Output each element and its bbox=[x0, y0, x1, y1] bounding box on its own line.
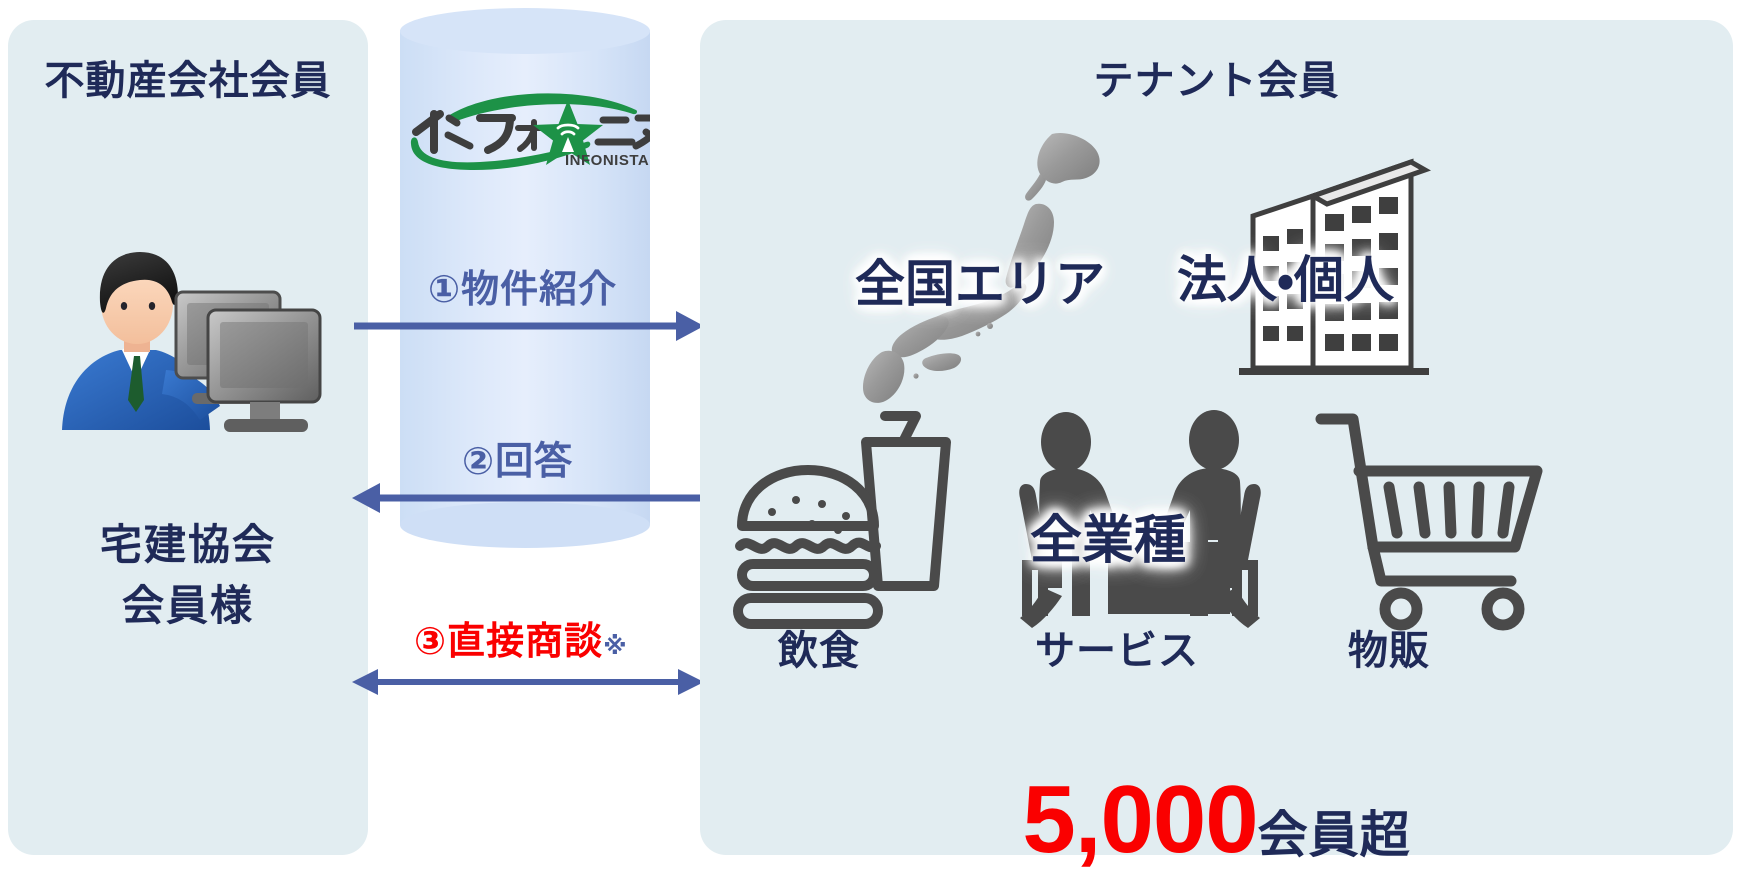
flow-3-arrow-bidirectional bbox=[352, 662, 704, 702]
category-label-food: 飲食 bbox=[778, 618, 860, 676]
flow-direct-negotiation: ③直接商談※ bbox=[352, 610, 704, 700]
feature-label-area: 全国エリア bbox=[855, 244, 1105, 316]
infonista-logo: INFONISTA bbox=[400, 80, 650, 170]
cylinder-top-ellipse bbox=[400, 8, 650, 54]
flow-3-label: ③直接商談 bbox=[414, 621, 603, 663]
category-label-retail: 物販 bbox=[1348, 618, 1430, 676]
person-at-computer-icon bbox=[48, 230, 328, 465]
member-count: 5,000会員超 bbox=[700, 765, 1733, 873]
left-caption-line-2: 会員様 bbox=[8, 576, 368, 637]
flow-property-introduction: ①物件紹介 bbox=[352, 258, 704, 346]
flow-2-arrow-left bbox=[352, 478, 704, 518]
flow-1-label: ①物件紹介 bbox=[428, 258, 617, 313]
right-panel: テナント会員 bbox=[700, 20, 1733, 855]
feature-label-industry: 全業種 bbox=[1030, 498, 1186, 573]
left-panel: 不動産会社会員 bbox=[8, 20, 368, 855]
member-count-suffix: 会員超 bbox=[1258, 807, 1411, 863]
svg-text:INFONISTA: INFONISTA bbox=[565, 152, 649, 169]
left-caption-line-1: 宅建協会 bbox=[8, 515, 368, 576]
flow-3-note-mark: ※ bbox=[603, 633, 627, 660]
flow-1-arrow-right bbox=[352, 306, 704, 346]
flow-answer: ②回答 bbox=[352, 430, 704, 518]
flow-3-label-group: ③直接商談※ bbox=[414, 610, 628, 665]
shopping-cart-icon bbox=[1315, 405, 1575, 650]
diagram-canvas: 不動産会社会員 bbox=[0, 0, 1741, 873]
category-label-service: サービス bbox=[1035, 618, 1199, 676]
left-panel-title: 不動産会社会員 bbox=[8, 48, 368, 106]
left-panel-caption: 宅建協会 会員様 bbox=[8, 515, 368, 637]
burger-and-drink-icon bbox=[720, 400, 970, 645]
right-panel-title: テナント会員 bbox=[700, 48, 1733, 106]
member-count-number: 5,000 bbox=[1022, 766, 1257, 873]
flow-2-label: ②回答 bbox=[462, 430, 573, 485]
feature-label-entity: 法人・個人 bbox=[1177, 240, 1394, 312]
